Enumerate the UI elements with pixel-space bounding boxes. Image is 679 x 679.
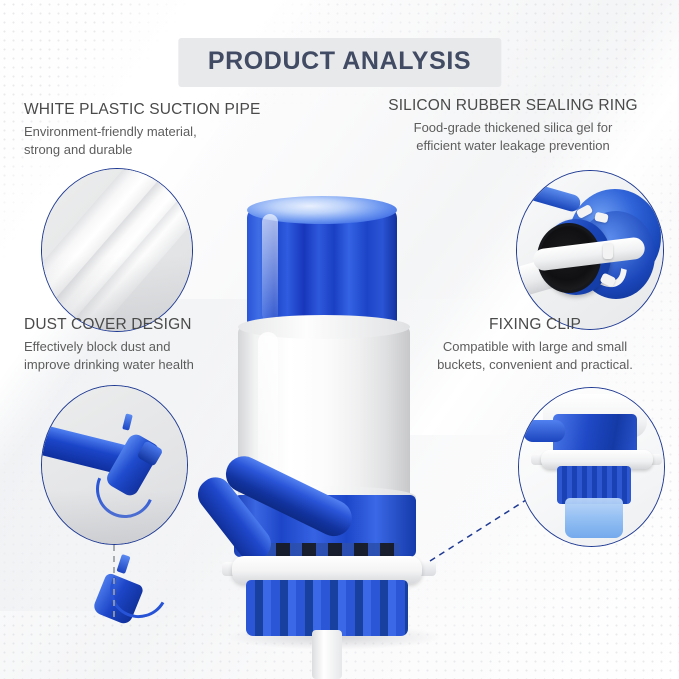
detail-circle-dust-cover [41, 385, 188, 545]
callout-sealing-ring-heading: SILICON RUBBER SEALING RING [363, 97, 663, 115]
callout-suction-pipe-heading: WHITE PLASTIC SUCTION PIPE [24, 101, 260, 119]
fixing-clip-closeup-art [519, 388, 664, 546]
detail-circle-sealing-ring [516, 170, 664, 330]
sealing-ring-closeup-art [517, 171, 663, 329]
dust-cover-shadow [42, 490, 187, 544]
callout-fixing-clip-heading: FIXING CLIP [410, 316, 660, 334]
callout-fixing-clip-body: Compatible with large and small buckets,… [410, 338, 660, 373]
callout-dust-cover-body: Effectively block dust and improve drink… [24, 338, 194, 373]
callout-dust-cover-heading: DUST COVER DESIGN [24, 316, 194, 334]
callout-sealing-ring: SILICON RUBBER SEALING RING Food-grade t… [363, 97, 663, 154]
sealing-ring-tab-3 [603, 243, 613, 259]
detail-circle-fixing-clip [518, 387, 665, 547]
page-title: PRODUCT ANALYSIS [208, 47, 471, 76]
callout-fixing-clip: FIXING CLIP Compatible with large and sm… [410, 316, 660, 373]
callout-dust-cover: DUST COVER DESIGN Effectively block dust… [24, 316, 194, 373]
suction-pipe-closeup-art [42, 169, 192, 331]
callout-suction-pipe-body: Environment-friendly material, strong an… [24, 123, 260, 158]
page-title-banner: PRODUCT ANALYSIS [178, 38, 501, 87]
callout-suction-pipe: WHITE PLASTIC SUCTION PIPE Environment-f… [24, 101, 260, 158]
fixing-clip-blue-elbow [523, 420, 565, 442]
dust-cover-closeup-art [42, 386, 187, 544]
detail-circle-suction-pipe [41, 168, 193, 332]
fixing-clip-translucent-tube [565, 498, 623, 538]
callout-sealing-ring-body: Food-grade thickened silica gel for effi… [363, 119, 663, 154]
